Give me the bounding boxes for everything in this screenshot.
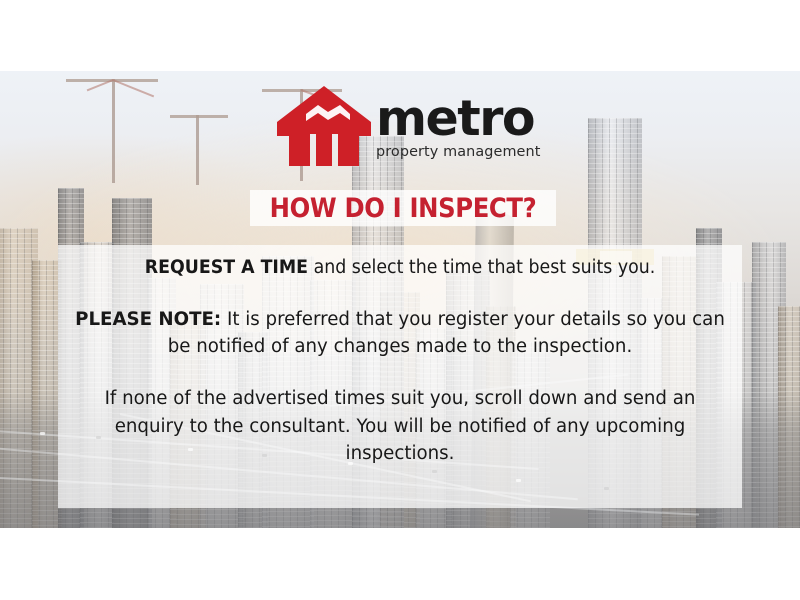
paragraph-2-lead: PLEASE NOTE: bbox=[75, 309, 221, 330]
poster-canvas: metro property management HOW DO I INSPE… bbox=[0, 0, 800, 600]
metro-house-m-logo-icon bbox=[276, 84, 372, 168]
instruction-paragraph-2: PLEASE NOTE: It is preferred that you re… bbox=[72, 306, 728, 361]
paragraph-3-rest: If none of the advertised times suit you… bbox=[105, 388, 696, 464]
brand-logo-lockup: metro property management bbox=[276, 84, 536, 170]
page-title: HOW DO I INSPECT? bbox=[265, 190, 540, 226]
letterbox-bottom bbox=[0, 528, 800, 600]
brand-wordmark-block: metro property management bbox=[376, 84, 540, 160]
instruction-copy: REQUEST A TIME and select the time that … bbox=[58, 245, 742, 508]
construction-crane bbox=[196, 115, 197, 185]
brand-wordmark: metro bbox=[376, 96, 540, 142]
paragraph-1-rest: and select the time that best suits you. bbox=[308, 257, 655, 278]
brand-tagline: property management bbox=[376, 144, 540, 160]
instruction-paragraph-3: If none of the advertised times suit you… bbox=[72, 385, 728, 468]
vehicle bbox=[40, 432, 45, 435]
instruction-paragraph-1: REQUEST A TIME and select the time that … bbox=[72, 254, 728, 282]
construction-crane bbox=[112, 79, 113, 183]
paragraph-2-rest: It is preferred that you register your d… bbox=[168, 309, 725, 358]
letterbox-top bbox=[0, 0, 800, 71]
paragraph-1-lead: REQUEST A TIME bbox=[145, 257, 308, 278]
